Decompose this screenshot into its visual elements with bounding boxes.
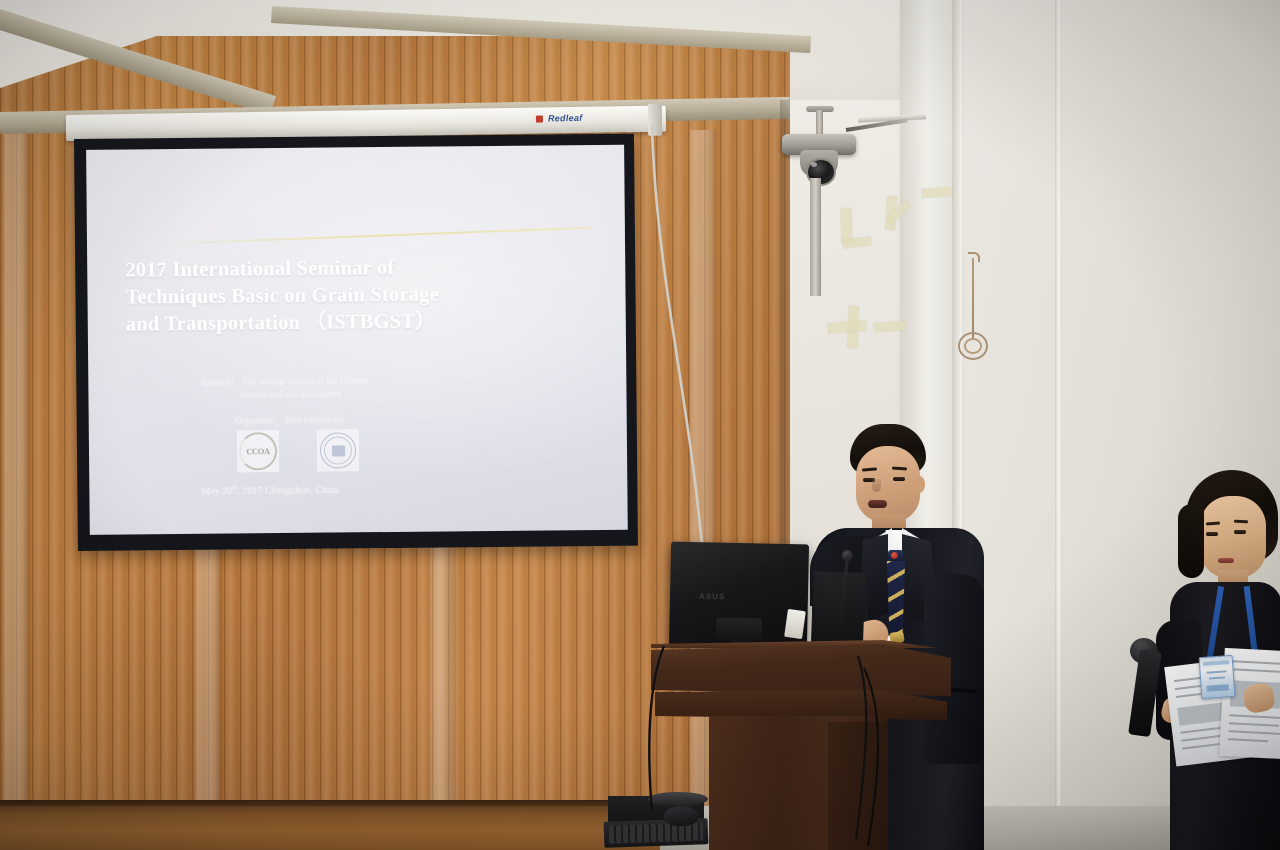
seal-core-icon [331, 445, 344, 456]
brand-logo-icon [536, 115, 543, 122]
assistant-person [1126, 470, 1280, 850]
wire-coil [958, 332, 988, 360]
assistant-face [1200, 496, 1266, 578]
slide-sponsor: Sponsor： The storage branch of the Chine… [200, 374, 530, 403]
university-seal-mark [320, 432, 356, 468]
speaker-eye [893, 477, 905, 481]
assistant-eye [1234, 530, 1246, 534]
sponsor-value-cont: cereals and oils association [200, 387, 530, 403]
speaker-mouth [868, 500, 887, 508]
organizer-label: Organizer： [235, 415, 283, 426]
monitor-brand-label: ASUS [699, 592, 725, 602]
assistant-eye [1206, 532, 1218, 536]
ccoa-logo-mark: CCOA [239, 432, 277, 470]
sponsor-value: The storage branch of the Chinese [242, 376, 369, 387]
slide-title: 2017 International Seminar of Techniques… [125, 253, 596, 339]
screen-brand-label: Redleaf [548, 113, 583, 124]
wall-seam [1055, 0, 1062, 850]
assistant-hair-side [1178, 504, 1204, 578]
name-badge [1199, 655, 1236, 699]
screen-surface: 2017 International Seminar of Techniques… [86, 145, 628, 535]
sponsor-label: Sponsor： [200, 377, 240, 387]
slide-organizer: Organizer： Jilin University [235, 410, 535, 427]
podium-cables [640, 640, 970, 850]
conference-photo: Redleaf 2017 International Seminar of Te… [0, 0, 1280, 850]
slide-title-line3: and Transportation （ISTBGST） [126, 307, 596, 339]
screen-brand: Redleaf [536, 113, 583, 124]
slide-date-rest: , 2017 Changchun, China [237, 485, 339, 497]
speaker-face [856, 446, 920, 522]
hanging-wire [972, 258, 974, 340]
wood-floor [0, 806, 700, 850]
organizer-value: Jilin University [285, 414, 345, 426]
slide-date-text: May 20 [201, 486, 232, 497]
assistant-mouth [1218, 558, 1234, 563]
ccoa-logo: CCOA [237, 430, 279, 472]
slide-logos: CCOA [237, 429, 359, 472]
camera-mount-pole [816, 110, 823, 136]
monitor-cable-plug [784, 609, 806, 639]
camera-wall-post [810, 178, 821, 296]
slide-date-location: May 20th, 2017 Changchun, China [201, 482, 541, 498]
slide-divider-rule [139, 227, 591, 246]
wall-wire-hook [968, 252, 980, 262]
speaker-nose [872, 479, 881, 492]
speaker-ear [914, 476, 925, 493]
camera-lens-glint [811, 162, 817, 167]
monitor-stand [716, 618, 762, 641]
projection-screen: 2017 International Seminar of Techniques… [74, 134, 638, 551]
wall-pilaster [4, 130, 30, 810]
speaker-tie-pin [891, 552, 898, 559]
university-seal-logo [317, 429, 359, 471]
presentation-slide: 2017 International Seminar of Techniques… [86, 145, 628, 535]
